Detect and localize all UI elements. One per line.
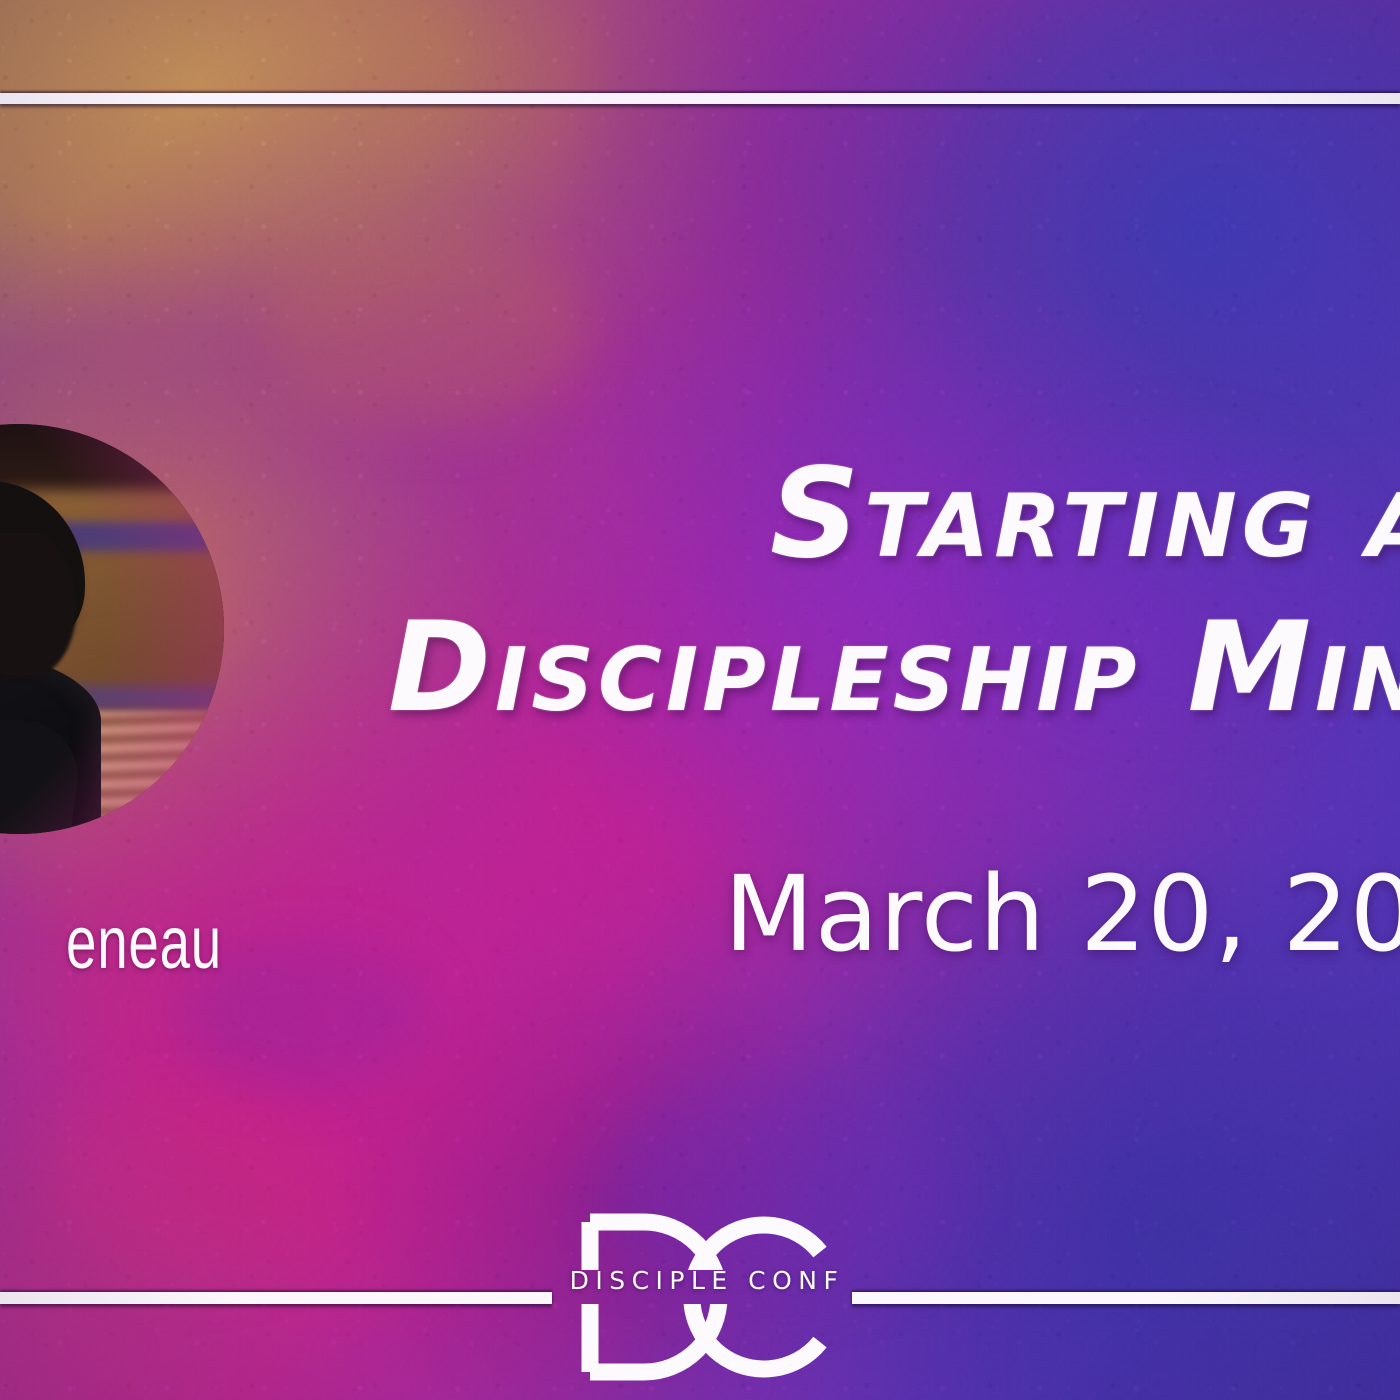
brand-logo-lockup: DISCIPLE CONF bbox=[0, 1200, 1400, 1400]
session-poster: eneau Starting a Discipleship Min March … bbox=[0, 0, 1400, 1400]
speaker-portrait-image bbox=[0, 424, 224, 834]
session-title-line-2: Discipleship Min bbox=[388, 606, 1400, 730]
session-title: Starting a Discipleship Min bbox=[360, 452, 1400, 730]
logo-divider-rule-left bbox=[0, 1292, 552, 1304]
speaker-portrait-circle bbox=[0, 424, 224, 834]
dc-monogram-icon bbox=[548, 1208, 860, 1386]
session-date: March 20, 2023 bbox=[724, 853, 1400, 975]
top-divider-rule bbox=[0, 93, 1400, 104]
logo-divider-rule-right bbox=[852, 1292, 1400, 1304]
brand-wordmark: DISCIPLE CONF bbox=[548, 1266, 860, 1295]
session-title-line-1: Starting a bbox=[770, 452, 1400, 576]
speaker-name: eneau bbox=[0, 900, 222, 985]
